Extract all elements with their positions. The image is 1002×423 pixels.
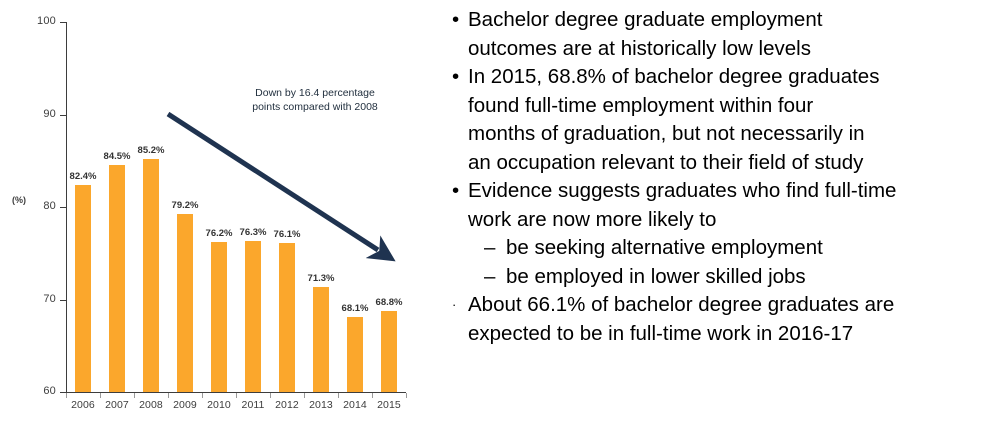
bar [75, 185, 91, 392]
sub-bullet-item: –be employed in lower skilled jobs [452, 263, 1002, 292]
bullet-text-line: Bachelor degree graduate employment [468, 6, 1002, 35]
bar-value-label: 68.8% [369, 297, 409, 308]
decline-callout-text: Down by 16.4 percentage points compared … [215, 86, 415, 114]
bar [109, 165, 125, 392]
bullet-item: •In 2015, 68.8% of bachelor degree gradu… [452, 63, 1002, 177]
bar [381, 311, 397, 392]
x-tick-mark [338, 393, 339, 398]
sub-bullet-item: –be seeking alternative employment [452, 234, 1002, 263]
bullet-item: •Evidence suggests graduates who find fu… [452, 177, 1002, 291]
decline-callout-line-2: points compared with 2008 [215, 100, 415, 114]
x-tick-mark [134, 393, 135, 398]
bar-value-label: 82.4% [63, 171, 103, 182]
bullet-item: ·About 66.1% of bachelor degree graduate… [452, 291, 1002, 348]
bullet-text-line: months of graduation, but not necessaril… [468, 120, 1002, 149]
x-tick-mark [100, 393, 101, 398]
y-tick-label: 70 [26, 293, 56, 305]
bullet-text-line: work are now more likely to [468, 206, 1002, 235]
slide-canvas: 60708090100 (%) 82.4%84.5%85.2%79.2%76.2… [0, 0, 1002, 423]
sub-bullet-text: be seeking alternative employment [506, 234, 823, 263]
bullet-text-line: About 66.1% of bachelor degree graduates… [468, 291, 1002, 320]
x-tick-mark [202, 393, 203, 398]
x-axis-label: 2015 [369, 399, 409, 411]
bullet-text: In 2015, 68.8% of bachelor degree gradua… [468, 63, 1002, 177]
decline-callout-line-1: Down by 16.4 percentage [215, 86, 415, 100]
x-tick-mark [406, 393, 407, 398]
bullet-text: About 66.1% of bachelor degree graduates… [468, 291, 1002, 348]
bullet-text-panel: •Bachelor degree graduate employmentoutc… [452, 0, 1002, 423]
x-tick-mark [270, 393, 271, 398]
bullet-text-line: Evidence suggests graduates who find ful… [468, 177, 1002, 206]
bar [211, 242, 227, 392]
bullet-marker-icon: • [452, 63, 468, 92]
y-tick-label: 60 [26, 385, 56, 397]
bullet-item: •Bachelor degree graduate employmentoutc… [452, 6, 1002, 63]
sub-bullet-text: be employed in lower skilled jobs [506, 263, 806, 292]
bar [143, 159, 159, 392]
sub-bullet-marker-icon: – [484, 234, 506, 263]
bullet-text-line: expected to be in full-time work in 2016… [468, 320, 1002, 349]
y-tick-label: 100 [26, 15, 56, 27]
bar-value-label: 85.2% [131, 145, 171, 156]
bullet-text-line: outcomes are at historically low levels [468, 35, 1002, 64]
y-tick-label: 80 [26, 200, 56, 212]
x-tick-mark [304, 393, 305, 398]
bar [177, 214, 193, 392]
bar [313, 287, 329, 392]
bullet-marker-icon: • [452, 6, 468, 35]
bullet-text-line: In 2015, 68.8% of bachelor degree gradua… [468, 63, 1002, 92]
y-tick-mark [60, 300, 67, 301]
bullet-text: Evidence suggests graduates who find ful… [468, 177, 1002, 234]
bar-value-label: 79.2% [165, 200, 205, 211]
bullet-text-line: found full-time employment within four [468, 92, 1002, 121]
y-tick-mark [60, 115, 67, 116]
bullet-row: ·About 66.1% of bachelor degree graduate… [452, 291, 1002, 348]
bullet-marker-icon: • [452, 177, 468, 206]
y-tick-label: 90 [26, 108, 56, 120]
bar-chart: 60708090100 (%) 82.4%84.5%85.2%79.2%76.2… [0, 0, 445, 423]
y-tick-mark [60, 22, 67, 23]
bar [245, 241, 261, 392]
y-tick-mark [60, 207, 67, 208]
x-tick-mark [372, 393, 373, 398]
bullet-marker-icon: · [452, 291, 468, 320]
bullet-row: •Bachelor degree graduate employmentoutc… [452, 6, 1002, 63]
bullet-text-line: an occupation relevant to their field of… [468, 149, 1002, 178]
bar [347, 317, 363, 392]
bullet-row: •In 2015, 68.8% of bachelor degree gradu… [452, 63, 1002, 177]
x-tick-mark [66, 393, 67, 398]
bar-value-label: 71.3% [301, 273, 341, 284]
y-axis-unit-label: (%) [12, 195, 26, 205]
x-tick-mark [168, 393, 169, 398]
bar-value-label: 76.1% [267, 229, 307, 240]
bar [279, 243, 295, 392]
x-tick-mark [236, 393, 237, 398]
sub-bullet-marker-icon: – [484, 263, 506, 292]
bullet-text: Bachelor degree graduate employmentoutco… [468, 6, 1002, 63]
bullet-row: •Evidence suggests graduates who find fu… [452, 177, 1002, 234]
